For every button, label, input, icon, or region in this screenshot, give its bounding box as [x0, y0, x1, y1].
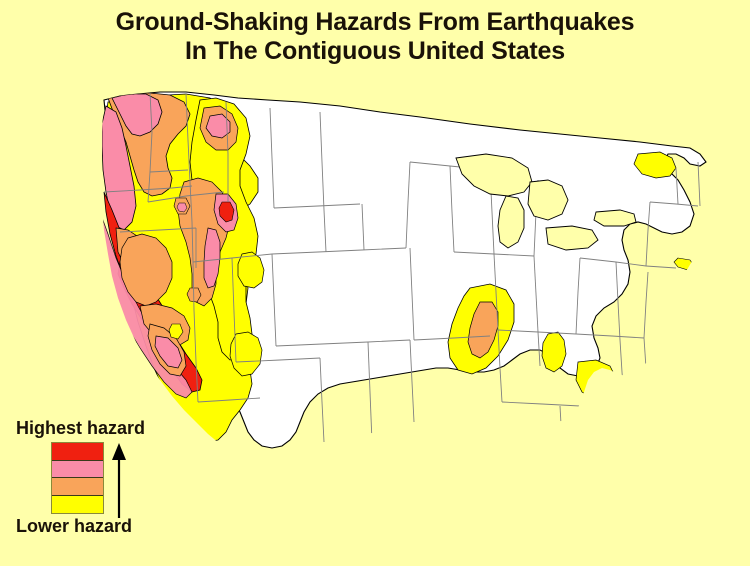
legend-swatch-lower [52, 496, 103, 514]
zone-charleston-yellow [576, 360, 616, 398]
legend-arrow-up-icon [104, 440, 134, 518]
zone-coastal-ne-yellow [674, 258, 694, 270]
legend-swatch-high [52, 461, 103, 479]
lake-erie [546, 226, 598, 250]
map-page: Ground-Shaking Hazards From Earthquakes … [0, 0, 750, 566]
legend-swatch-highest [52, 443, 103, 461]
hazard-legend: Highest hazard Lower hazard [8, 418, 198, 548]
legend-top-label: Highest hazard [16, 418, 145, 439]
lake-ontario [594, 210, 636, 226]
legend-swatch-moderate [52, 478, 103, 496]
legend-swatch-stack [51, 442, 104, 514]
legend-bottom-label: Lower hazard [16, 516, 132, 537]
title-line-1: Ground-Shaking Hazards From Earthquakes [0, 8, 750, 37]
zone-charleston-orange-core [595, 378, 610, 394]
page-title: Ground-Shaking Hazards From Earthquakes … [0, 8, 750, 66]
lake-huron [528, 180, 568, 220]
